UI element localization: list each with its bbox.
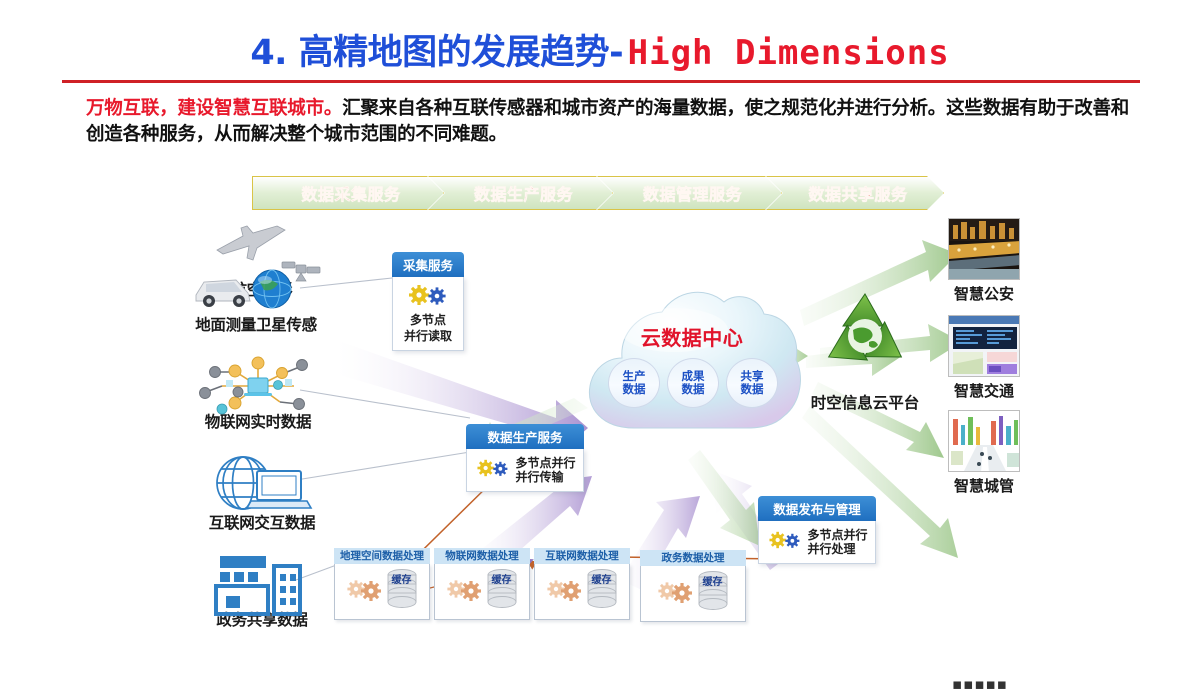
gears-icon <box>546 576 582 607</box>
processing-header: 物联网数据处理 <box>434 548 530 564</box>
gears-icon <box>346 576 382 607</box>
gears-icon <box>406 284 450 311</box>
outcome-ellipsis: ▪▪▪▪▪ <box>952 675 1008 693</box>
card-line-2: 并行处理 <box>808 542 868 556</box>
outcome-smart-city-management[interactable]: 智慧城管 <box>928 410 1040 496</box>
page-title-cn: 4. 高精地图的发展趋势- <box>250 33 623 73</box>
ribbon-step-1[interactable]: 数据生产服务 <box>428 176 613 210</box>
pill-line-2: 数据 <box>623 383 646 396</box>
gears-icon <box>475 457 511 484</box>
card-body: 多节点并行 并行处理 <box>758 521 876 564</box>
card-line-2: 并行读取 <box>404 329 452 343</box>
cloud-data-pills: 生产 数据 成果 数据 共享 数据 <box>608 358 778 408</box>
source-iot-realtime[interactable]: 物联网实时数据 <box>192 352 324 432</box>
cache-label: 缓存 <box>385 575 419 586</box>
processing-box-geospatial[interactable]: 地理空间数据处理 <box>334 548 430 620</box>
processing-box-internet[interactable]: 互联网数据处理 <box>534 548 630 620</box>
title-divider <box>62 80 1140 83</box>
cache-label: 缓存 <box>696 577 730 588</box>
card-publish-manage[interactable]: 数据发布与管理 多节点并行 并行处理 <box>758 496 876 564</box>
ribbon-step-label: 数据采集服务 <box>295 181 400 205</box>
government-building-icon <box>196 550 328 608</box>
outcome-label: 智慧城管 <box>928 475 1040 496</box>
processing-header: 政务数据处理 <box>640 550 746 566</box>
card-produce-service[interactable]: 数据生产服务 多节点并行 并行传输 <box>466 424 584 492</box>
outcome-smart-police[interactable]: 智慧公安 <box>928 218 1040 304</box>
processing-box-government[interactable]: 政务数据处理 <box>640 550 746 622</box>
cloud-pill-production[interactable]: 生产 数据 <box>608 358 660 408</box>
cache-label: 缓存 <box>585 575 619 586</box>
card-body: 多节点并行 并行传输 <box>466 449 584 492</box>
card-line-1: 多节点 <box>410 313 446 327</box>
outcome-label: 智慧交通 <box>928 380 1040 401</box>
intro-highlight: 万物互联，建设智慧互联城市。 <box>86 98 342 119</box>
pill-line-2: 数据 <box>741 383 764 396</box>
cloud-title: 云数据中心 <box>578 322 806 351</box>
card-collect-service[interactable]: 采集服务 多节点 并行读取 <box>392 252 464 351</box>
source-government-shared[interactable]: 政务共享数据 <box>196 550 328 630</box>
city-street-illustration <box>948 410 1020 472</box>
cache-cylinder-icon: 缓存 <box>696 569 730 618</box>
traffic-dashboard-photo <box>948 315 1020 377</box>
cache-cylinder-icon: 缓存 <box>585 567 619 616</box>
source-ground-satellite[interactable]: 地面测量卫星传感 <box>190 255 322 335</box>
ribbon-step-0[interactable]: 数据采集服务 <box>252 176 444 210</box>
processing-body: 缓存 <box>434 564 530 620</box>
city-night-photo <box>948 218 1020 280</box>
cloud-pill-shared[interactable]: 共享 数据 <box>726 358 778 408</box>
card-body: 多节点 并行读取 <box>392 277 464 351</box>
source-label: 地面测量卫星传感 <box>190 313 322 335</box>
card-header: 采集服务 <box>392 252 464 277</box>
ribbon-step-label: 数据生产服务 <box>468 181 573 205</box>
iot-network-icon <box>192 352 324 410</box>
spatiotemporal-cloud-platform[interactable]: 时空信息云平台 <box>790 288 940 413</box>
processing-body: 缓存 <box>334 564 430 620</box>
page-title: 4. 高精地图的发展趋势- High Dimensions <box>0 24 1200 75</box>
gears-icon <box>446 576 482 607</box>
card-line-1: 多节点并行 <box>808 528 868 542</box>
card-line-1: 多节点并行 <box>516 456 576 470</box>
card-header: 数据发布与管理 <box>758 496 876 521</box>
cache-cylinder-icon: 缓存 <box>385 567 419 616</box>
card-header: 数据生产服务 <box>466 424 584 449</box>
ribbon-step-label: 数据共享服务 <box>802 181 907 205</box>
outcome-label: 智慧公安 <box>928 283 1040 304</box>
pill-line-2: 数据 <box>682 383 705 396</box>
gears-icon <box>767 529 803 556</box>
processing-header: 地理空间数据处理 <box>334 548 430 564</box>
processing-header: 互联网数据处理 <box>534 548 630 564</box>
ribbon-step-label: 数据管理服务 <box>637 181 742 205</box>
car-satellite-icon <box>190 255 322 313</box>
cache-cylinder-icon: 缓存 <box>485 567 519 616</box>
cloud-data-center[interactable]: 云数据中心 生产 数据 成果 数据 共享 数据 <box>578 278 806 438</box>
page-title-en: High Dimensions <box>628 33 950 73</box>
cache-label: 缓存 <box>485 575 519 586</box>
ribbon-step-3[interactable]: 数据共享服务 <box>766 176 944 210</box>
source-internet-interaction[interactable]: 互联网交互数据 <box>196 453 328 533</box>
architecture-diagram: 数据采集服务 数据生产服务 数据管理服务 数据共享服务 航空摄影 <box>0 160 1200 675</box>
ribbon-step-2[interactable]: 数据管理服务 <box>597 176 782 210</box>
cloud-pill-results[interactable]: 成果 数据 <box>667 358 719 408</box>
processing-box-iot[interactable]: 物联网数据处理 <box>434 548 530 620</box>
card-line-2: 并行传输 <box>516 470 576 484</box>
globe-laptop-icon <box>196 453 328 511</box>
recycle-globe-icon <box>811 371 919 388</box>
platform-label: 时空信息云平台 <box>790 391 940 413</box>
processing-body: 缓存 <box>640 566 746 622</box>
gears-icon <box>657 578 693 609</box>
processing-body: 缓存 <box>534 564 630 620</box>
outcome-smart-transport[interactable]: 智慧交通 <box>928 315 1040 401</box>
intro-paragraph: 万物互联，建设智慧互联城市。汇聚来自各种互联传感器和城市资产的海量数据，使之规范… <box>86 96 1146 148</box>
